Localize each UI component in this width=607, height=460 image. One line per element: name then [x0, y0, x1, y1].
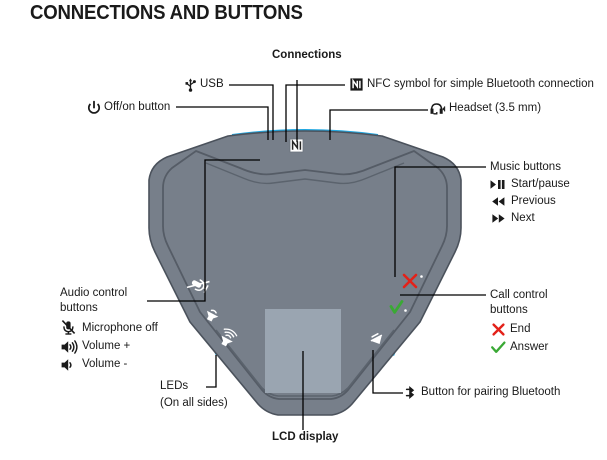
- leds-group: LEDs (On all sides): [160, 379, 228, 411]
- led-strip-top: [232, 129, 378, 140]
- device-button-microphone-off: [187, 274, 210, 296]
- label-headset: Headset (3.5 mm): [430, 101, 541, 116]
- headset-label: Headset (3.5 mm): [449, 101, 541, 116]
- call-control-group: Call control buttons End Answer: [490, 288, 548, 355]
- lcd-bezel-contour: [216, 330, 394, 396]
- audio-item-label: Volume +: [82, 339, 130, 354]
- audio-item-label: Volume -: [82, 357, 127, 372]
- end-call-icon: [490, 323, 506, 336]
- label-bluetooth: Button for pairing Bluetooth: [406, 385, 560, 400]
- music-buttons-group: Music buttons Start/pause Previous Nex: [490, 160, 570, 226]
- music-item-previous: Previous: [490, 194, 570, 209]
- label-nfc: NFC symbol for simple Bluetooth connecti…: [350, 77, 594, 92]
- audio-item-volume-down: Volume -: [60, 357, 158, 372]
- leader-power: [176, 107, 268, 140]
- device-inner-contour-2: [206, 163, 404, 183]
- audio-item-volume-up: Volume +: [60, 339, 158, 354]
- volume-down-icon: [60, 358, 78, 372]
- lcd-display: [265, 309, 341, 393]
- volume-up-icon: [60, 340, 78, 354]
- audio-control-heading-line2: buttons: [60, 301, 158, 316]
- power-label: Off/on button: [104, 100, 170, 115]
- connections-heading: Connections: [272, 48, 342, 63]
- leader-headset: [330, 110, 428, 140]
- previous-icon: [490, 196, 507, 207]
- headset-icon: [430, 102, 445, 116]
- nfc-icon-on-device: [290, 139, 303, 152]
- device-button-bluetooth-pairing: [370, 332, 386, 346]
- label-usb: USB: [185, 77, 224, 92]
- music-item-label: Next: [511, 211, 535, 226]
- label-power: Off/on button: [88, 100, 170, 115]
- audio-item-microphone-off: Microphone off: [60, 320, 158, 336]
- music-item-start-pause: Start/pause: [490, 177, 570, 192]
- call-control-heading-line2: buttons: [490, 303, 548, 318]
- device-button-end-call: [404, 275, 423, 287]
- device-button-volume-down: [204, 308, 220, 324]
- lcd-display-label: LCD display: [272, 430, 338, 445]
- call-item-answer: Answer: [490, 340, 548, 355]
- music-item-label: Start/pause: [511, 177, 570, 192]
- leader-nfc: [286, 85, 345, 142]
- music-item-next: Next: [490, 211, 570, 226]
- answer-call-icon: [490, 341, 506, 354]
- call-item-label: Answer: [510, 340, 548, 355]
- audio-item-label: Microphone off: [82, 321, 158, 336]
- usb-icon: [185, 78, 196, 92]
- call-control-heading-line1: Call control: [490, 288, 548, 303]
- leader-bluetooth: [373, 350, 403, 393]
- leds-note: (On all sides): [160, 396, 228, 411]
- led-strip-left: [189, 290, 223, 356]
- music-buttons-heading: Music buttons: [490, 160, 570, 175]
- call-item-end: End: [490, 322, 548, 337]
- power-icon: [88, 101, 100, 115]
- device-button-answer-call: [391, 302, 407, 313]
- leds-label: LEDs: [160, 379, 228, 394]
- music-item-label: Previous: [511, 194, 556, 209]
- audio-control-group: Audio control buttons Microphone off Vol…: [60, 286, 158, 372]
- device-rim: [149, 131, 461, 415]
- nfc-icon: [350, 78, 363, 91]
- call-item-label: End: [510, 322, 530, 337]
- play-pause-icon: [490, 179, 507, 190]
- led-strip-right: [387, 290, 421, 356]
- leader-usb: [229, 85, 273, 140]
- microphone-off-icon: [60, 320, 78, 336]
- device-inner-contour: [163, 151, 447, 399]
- usb-label: USB: [200, 77, 224, 92]
- next-icon: [490, 213, 507, 224]
- device-button-volume-up: [218, 327, 238, 348]
- leader-music: [395, 167, 486, 277]
- audio-control-heading-line1: Audio control: [60, 286, 158, 301]
- device-body: [149, 131, 461, 415]
- leader-audio: [147, 160, 260, 301]
- bluetooth-icon: [406, 385, 417, 400]
- nfc-label: NFC symbol for simple Bluetooth connecti…: [367, 77, 594, 92]
- bluetooth-label: Button for pairing Bluetooth: [421, 385, 560, 400]
- page-title: CONNECTIONS AND BUTTONS: [30, 2, 303, 25]
